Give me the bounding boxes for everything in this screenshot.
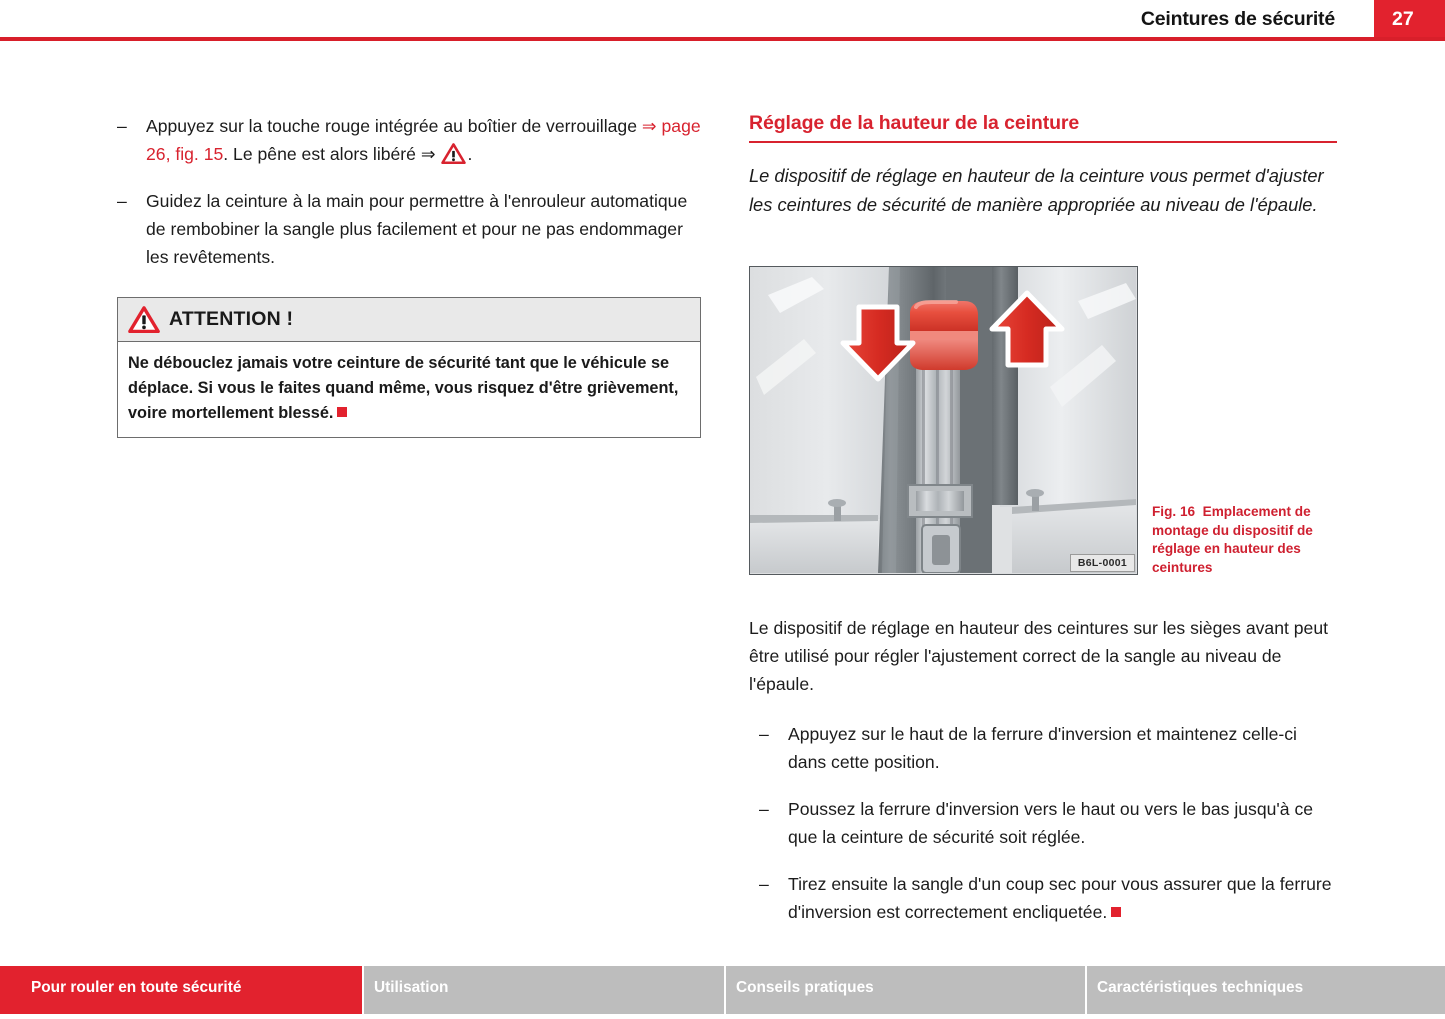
- bullet-text: Guidez la ceinture à la main pour permet…: [146, 187, 707, 271]
- list-item: – Appuyez sur le haut de la ferrure d'in…: [749, 720, 1337, 776]
- bullet-dash: –: [759, 795, 788, 851]
- footer-chapter-tabs: Pour rouler en toute sécurité Utilisatio…: [0, 961, 1445, 1019]
- end-of-section-square-marker: [337, 407, 347, 417]
- bullet-text-end: .: [467, 144, 472, 164]
- page-title: Ceintures de sécurité: [1141, 8, 1335, 31]
- bullet-text-content: Tirez ensuite la sangle d'un coup sec po…: [788, 874, 1332, 922]
- belt-height-adjuster-illustration: [750, 267, 1136, 573]
- right-column: Réglage de la hauteur de la ceinture Le …: [749, 112, 1337, 241]
- footer-tab-label: Utilisation: [374, 979, 448, 997]
- figure-16: B6L-0001: [749, 266, 1138, 575]
- section-heading: Réglage de la hauteur de la ceinture: [749, 112, 1337, 135]
- right-column-lower: Le dispositif de réglage en hauteur des …: [749, 614, 1337, 945]
- bullet-dash: –: [117, 187, 146, 271]
- bullet-text: Appuyez sur la touche rouge intégrée au …: [146, 112, 707, 168]
- footer-tab-utilisation[interactable]: Utilisation: [364, 966, 724, 1014]
- bullet-text: Poussez la ferrure d'inversion vers le h…: [788, 795, 1337, 851]
- header-divider-rule: [0, 37, 1445, 41]
- list-item: – Tirez ensuite la sangle d'un coup sec …: [749, 870, 1337, 926]
- bullet-text: Appuyez sur le haut de la ferrure d'inve…: [788, 720, 1337, 776]
- footer-tab-caracteristiques[interactable]: Caractéristiques techniques: [1087, 966, 1445, 1014]
- list-item: – Guidez la ceinture à la main pour perm…: [117, 187, 707, 271]
- attention-box-text: Ne débouclez jamais votre ceinture de sé…: [128, 354, 678, 422]
- page-header: Ceintures de sécurité 27: [0, 0, 1445, 41]
- left-column: – Appuyez sur la touche rouge intégrée a…: [117, 112, 707, 290]
- bullet-text-after: . Le pêne est alors libéré ⇒: [223, 144, 440, 164]
- warning-triangle-icon: [441, 143, 466, 164]
- figure-caption-number: Fig. 16: [1152, 504, 1195, 519]
- section-lede-paragraph: Le dispositif de réglage en hauteur de l…: [749, 161, 1329, 219]
- attention-box-header: ATTENTION !: [118, 298, 700, 342]
- end-of-section-square-marker: [1111, 907, 1121, 917]
- bullet-text: Tirez ensuite la sangle d'un coup sec po…: [788, 870, 1337, 926]
- figure-image-frame: [749, 266, 1138, 575]
- bullet-text-before: Appuyez sur la touche rouge intégrée au …: [146, 116, 642, 136]
- figure-caption: Fig. 16 Emplacement de montage du dispos…: [1152, 503, 1340, 577]
- attention-box-body: Ne débouclez jamais votre ceinture de sé…: [118, 342, 700, 437]
- list-item: – Appuyez sur la touche rouge intégrée a…: [117, 112, 707, 168]
- body-paragraph: Le dispositif de réglage en hauteur des …: [749, 614, 1337, 698]
- footer-tab-label: Pour rouler en toute sécurité: [31, 979, 241, 997]
- figure-code-label: B6L-0001: [1070, 554, 1135, 572]
- section-heading-rule: [749, 141, 1337, 143]
- bullet-dash: –: [759, 720, 788, 776]
- footer-tab-label: Conseils pratiques: [736, 979, 874, 997]
- bullet-dash: –: [759, 870, 788, 926]
- warning-triangle-icon: [128, 306, 160, 333]
- footer-tab-label: Caractéristiques techniques: [1097, 979, 1303, 997]
- page-number: 27: [1392, 8, 1414, 31]
- attention-box-title: ATTENTION !: [169, 308, 293, 331]
- page-number-badge: 27: [1374, 0, 1445, 38]
- belt-height-adjuster-knob: [910, 301, 978, 370]
- list-item: – Poussez la ferrure d'inversion vers le…: [749, 795, 1337, 851]
- footer-tab-securite[interactable]: Pour rouler en toute sécurité: [0, 966, 362, 1014]
- bullet-dash: –: [117, 112, 146, 168]
- footer-tab-conseils[interactable]: Conseils pratiques: [726, 966, 1085, 1014]
- attention-warning-box: ATTENTION ! Ne débouclez jamais votre ce…: [117, 297, 701, 438]
